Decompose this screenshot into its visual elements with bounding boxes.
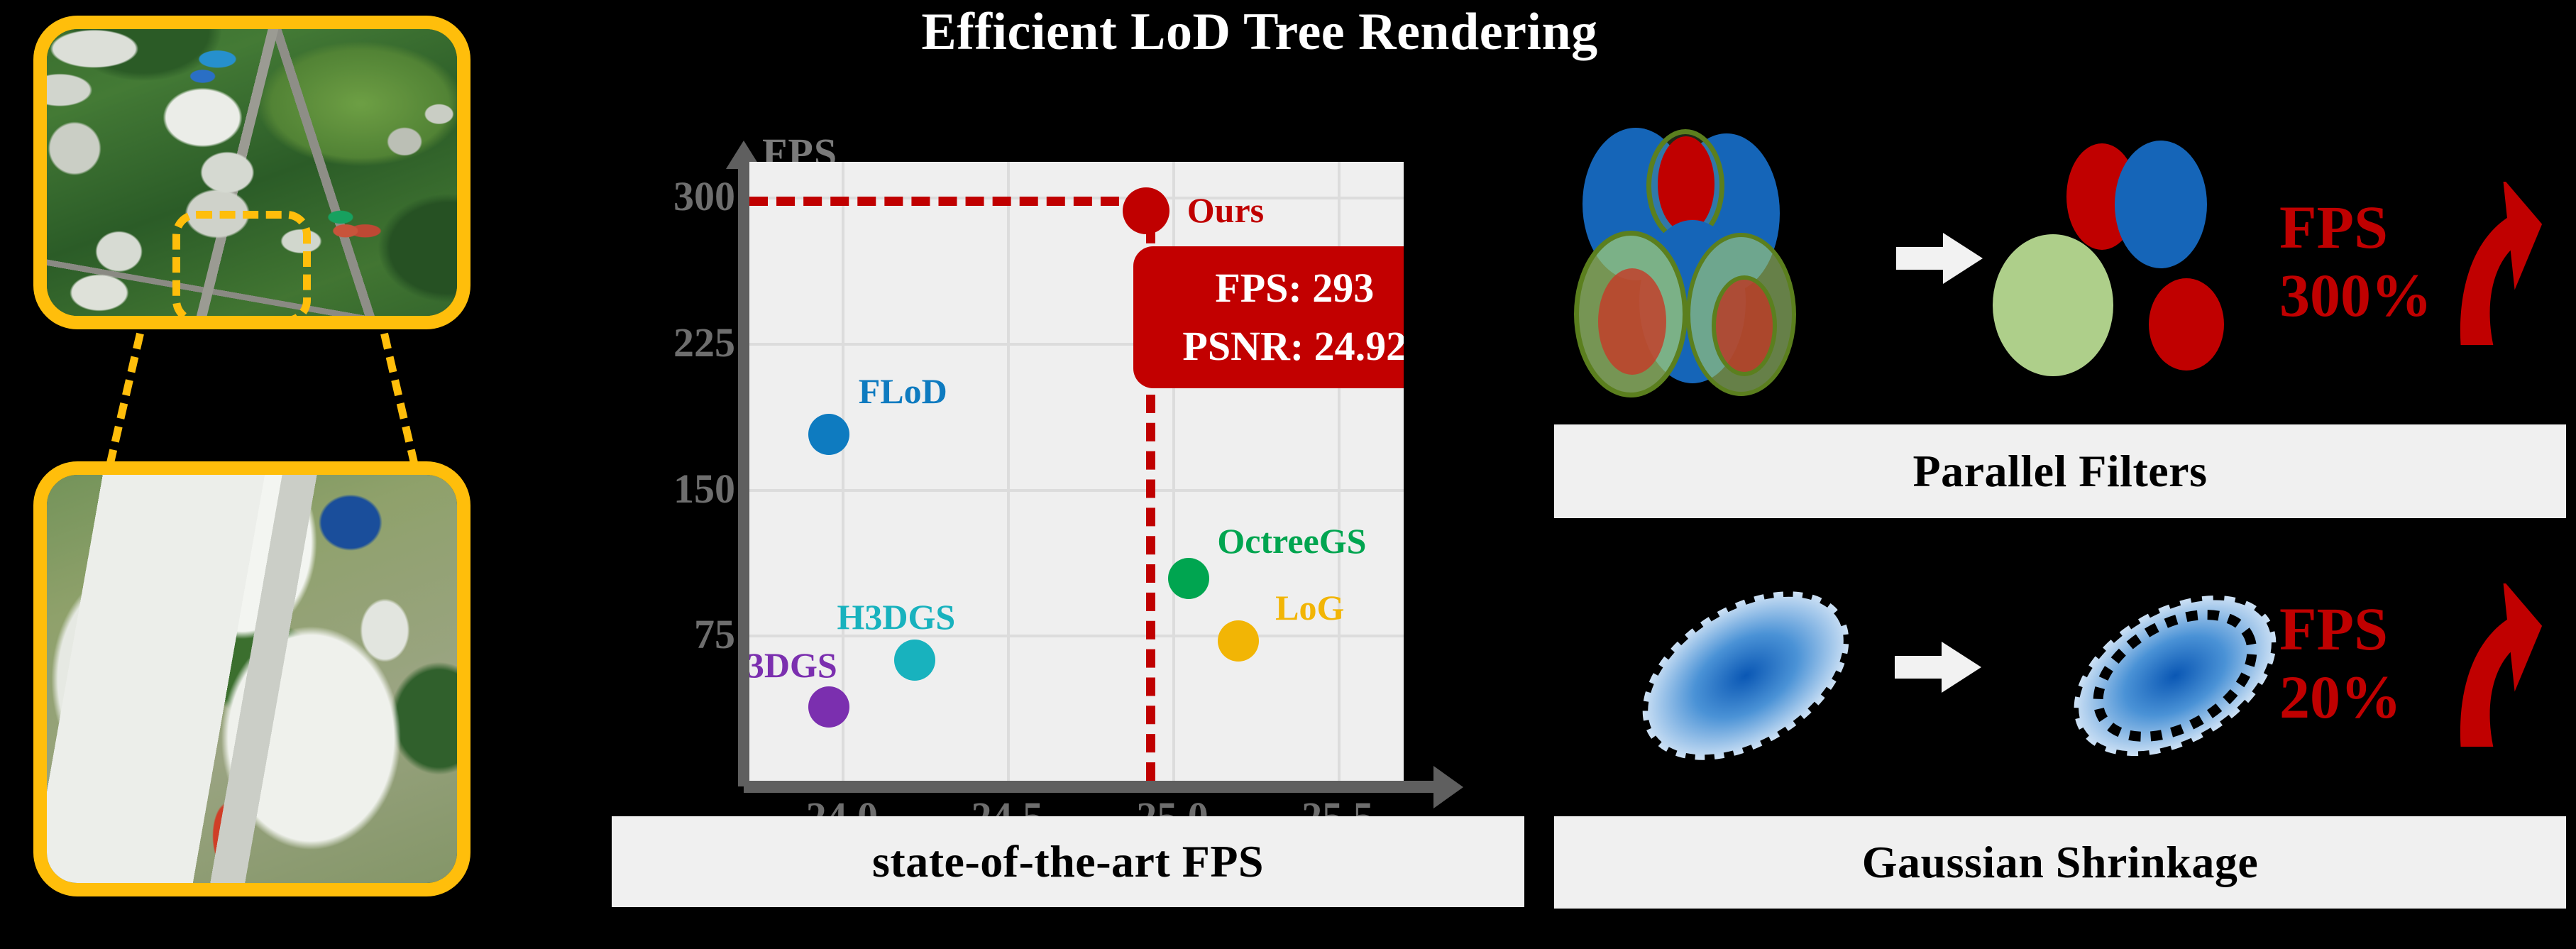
- fps-guide-line: [749, 197, 1146, 206]
- red-up-arrow-icon: [2434, 182, 2569, 345]
- caption-parallel-filters: Parallel Filters: [1554, 424, 2566, 518]
- parallel-fps-value: 300%: [2279, 261, 2432, 329]
- data-point-ours: [1123, 187, 1169, 234]
- callout-connector-right: [380, 333, 418, 466]
- aerial-closeup-image: [47, 475, 457, 883]
- right-arrow-icon: [1895, 642, 1980, 691]
- right-arrow-icon: [1896, 233, 1981, 282]
- data-point-octreegs: [1168, 558, 1209, 599]
- y-axis-tick-label: 300: [613, 176, 735, 217]
- data-point-label-ours: Ours: [1187, 192, 1264, 228]
- y-axis-line: [738, 162, 749, 786]
- data-point-log: [1218, 620, 1259, 662]
- page-title: Efficient LoD Tree Rendering: [717, 4, 1802, 60]
- y-axis-tick-label: 75: [613, 614, 735, 655]
- gaussian-before: [1611, 569, 1881, 782]
- x-axis-line: [744, 781, 1439, 793]
- y-axis-tick-label: 150: [613, 468, 735, 510]
- parallel-fps-label: FPS: [2279, 193, 2432, 261]
- arrow-shaft: [1896, 247, 1947, 270]
- red-ellipse-top: [1658, 136, 1714, 232]
- data-point-h3dgs: [894, 640, 935, 681]
- parallel-filters-diagram: FPS 300%: [1554, 114, 2566, 419]
- callout-psnr-line: PSNR: 24.92: [1182, 317, 1404, 375]
- zoom-region-callout: [172, 211, 311, 324]
- gridline-vertical: [842, 162, 844, 781]
- data-point-label-log: LoG: [1275, 590, 1344, 625]
- gaussian-shrinkage-diagram: FPS 20%: [1554, 534, 2566, 811]
- blue-ellipse-result: [2115, 141, 2207, 268]
- scene-preview-panel: [0, 0, 561, 949]
- red-ellipse-result-bottom: [2149, 278, 2224, 371]
- data-point-label-h3dgs: H3DGS: [837, 599, 955, 635]
- parallel-fps-stat: FPS 300%: [2279, 193, 2432, 329]
- aerial-closeup-texture: [47, 475, 457, 883]
- caption-state-of-the-art-fps: state-of-the-art FPS: [612, 816, 1524, 907]
- arrow-head: [1943, 233, 1983, 284]
- red-ellipse-bottom-right: [1712, 275, 1777, 376]
- red-up-arrow-icon: [2434, 583, 2569, 747]
- arrow-head: [1942, 642, 1981, 693]
- gridline-vertical: [1007, 162, 1010, 781]
- callout-fps-line: FPS: 293: [1215, 259, 1374, 317]
- data-point-label-octreegs: OctreeGS: [1217, 523, 1366, 559]
- data-point-label-flod: FLoD: [859, 373, 947, 409]
- data-point-3dgs: [808, 686, 849, 728]
- ours-metrics-callout: FPS: 293 PSNR: 24.92: [1133, 246, 1404, 388]
- red-ellipse-bottom-left: [1598, 268, 1666, 375]
- arrow-shaft: [1895, 656, 1946, 679]
- gaussian-after: [2044, 569, 2306, 782]
- shrinkage-fps-label: FPS: [2279, 595, 2401, 663]
- aerial-closeup-photo: [33, 461, 470, 896]
- y-axis-tick-labels: 30022515075: [610, 162, 735, 786]
- plot-area: OursFLoDOctreeGSLoGH3DGS3DGS FPS: 293 PS…: [749, 162, 1404, 781]
- poster-root: Efficient LoD Tree Rendering FPS PSNR 30…: [0, 0, 2576, 949]
- green-ellipse-result: [1993, 234, 2113, 376]
- caption-gaussian-shrinkage: Gaussian Shrinkage: [1554, 816, 2566, 909]
- shrinkage-fps-stat: FPS 20%: [2279, 595, 2401, 731]
- y-axis-tick-label: 225: [613, 322, 735, 363]
- data-point-label-3dgs: 3DGS: [749, 647, 837, 683]
- shrinkage-fps-value: 20%: [2279, 663, 2401, 731]
- gridline-horizontal: [749, 489, 1404, 492]
- fps-psnr-scatter-chart: FPS PSNR 30022515075 24.024.525.025.5 Ou…: [610, 85, 1526, 923]
- callout-connector-left: [106, 333, 143, 466]
- data-point-flod: [808, 414, 849, 455]
